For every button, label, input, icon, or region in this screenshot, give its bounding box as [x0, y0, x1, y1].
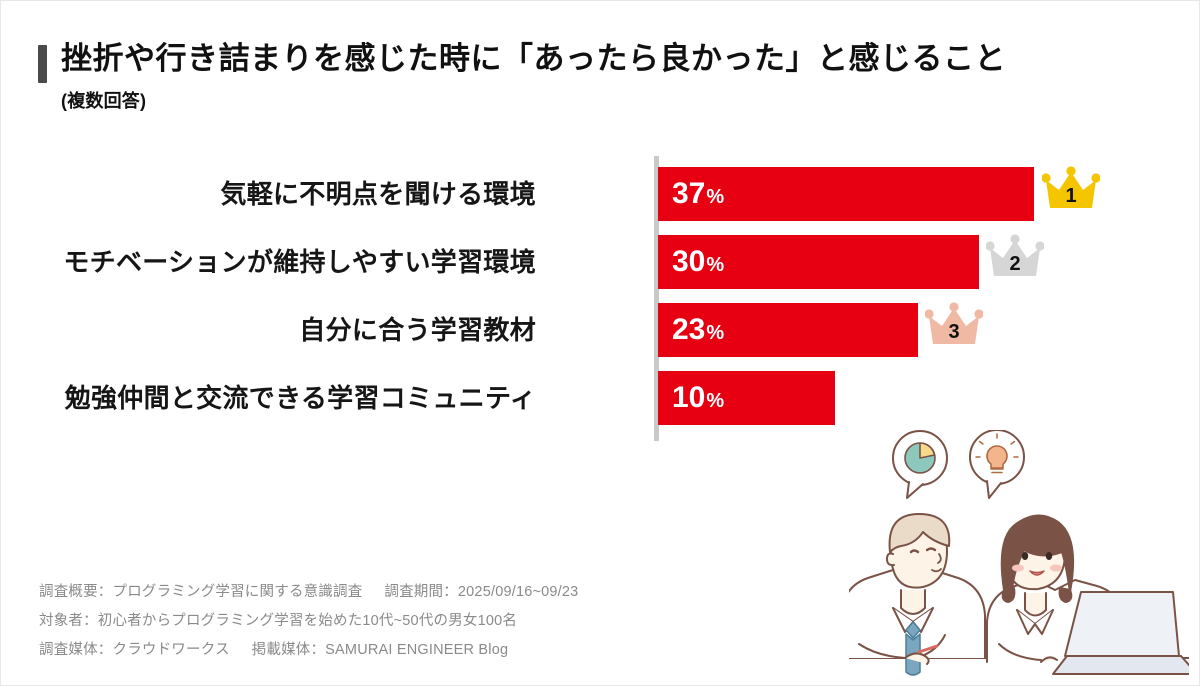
page-subtitle: (複数回答)	[61, 87, 1159, 113]
footer-line-3: 調査媒体：クラウドワークス掲載媒体：SAMURAI ENGINEER Blog	[39, 636, 578, 665]
survey-overview: 調査概要：プログラミング学習に関する意識調査	[39, 584, 362, 600]
title-block: 挫折や行き詰まりを感じた時に「あったら良かった」と感じること (複数回答)	[38, 41, 1159, 113]
rank-number: 1	[1042, 186, 1100, 206]
man-with-tie	[849, 514, 985, 675]
bar-value: 23%	[672, 315, 724, 345]
chart-row: 自分に合う学習教材 23% 3	[38, 303, 1168, 357]
chart-row: 気軽に不明点を聞ける環境 37% 1	[38, 167, 1168, 221]
survey-target: 対象者：初心者からプログラミング学習を始めた10代~50代の男女100名	[39, 613, 517, 629]
rank-crown-1: 1	[1042, 164, 1100, 218]
footer-line-1: 調査概要：プログラミング学習に関する意識調査調査期間：2025/09/16~09…	[39, 578, 578, 607]
publishing-medium: 掲載媒体：SAMURAI ENGINEER Blog	[252, 642, 509, 658]
bar-chart: 気軽に不明点を聞ける環境 37% 1 モチベーションが維持しやすい学習環境 30…	[38, 151, 1168, 451]
people-illustration	[849, 430, 1189, 685]
footer-notes: 調査概要：プログラミング学習に関する意識調査調査期間：2025/09/16~09…	[39, 578, 578, 665]
survey-medium: 調査媒体：クラウドワークス	[39, 642, 230, 658]
page-title: 挫折や行き詰まりを感じた時に「あったら良かった」と感じること	[61, 41, 1006, 77]
infographic-page: 挫折や行き詰まりを感じた時に「あったら良かった」と感じること (複数回答) 気軽…	[0, 0, 1200, 686]
lightbulb-icon	[970, 430, 1024, 498]
rank-crown-2: 2	[986, 232, 1044, 286]
chart-row: 勉強仲間と交流できる学習コミュニティ 10%	[38, 371, 1168, 425]
bar-value: 10%	[672, 383, 724, 413]
percent-sign: %	[706, 186, 724, 208]
bar-segment: 37%	[658, 167, 1034, 221]
bar-segment: 10%	[658, 371, 835, 425]
title-accent-bar	[38, 45, 47, 83]
bar-label: モチベーションが維持しやすい学習環境	[63, 235, 536, 289]
title-row: 挫折や行き詰まりを感じた時に「あったら良かった」と感じること	[38, 41, 1159, 83]
bar-label: 勉強仲間と交流できる学習コミュニティ	[65, 371, 536, 425]
bar-value: 37%	[672, 179, 724, 209]
rank-number: 2	[986, 254, 1044, 274]
percent-sign: %	[706, 254, 724, 276]
percent-sign: %	[706, 322, 724, 344]
bar-label: 自分に合う学習教材	[299, 303, 536, 357]
percent-sign: %	[706, 390, 724, 412]
footer-line-2: 対象者：初心者からプログラミング学習を始めた10代~50代の男女100名	[39, 607, 578, 636]
rank-crown-3: 3	[925, 300, 983, 354]
bar-segment: 23%	[658, 303, 918, 357]
survey-period: 調査期間：2025/09/16~09/23	[384, 584, 578, 600]
bar-value: 30%	[672, 247, 724, 277]
pie-chart-icon	[893, 431, 947, 498]
bar-label: 気軽に不明点を聞ける環境	[220, 167, 536, 221]
chart-row: モチベーションが維持しやすい学習環境 30% 2	[38, 235, 1168, 289]
rank-number: 3	[925, 322, 983, 342]
woman-with-laptop	[987, 515, 1189, 674]
bar-segment: 30%	[658, 235, 979, 289]
